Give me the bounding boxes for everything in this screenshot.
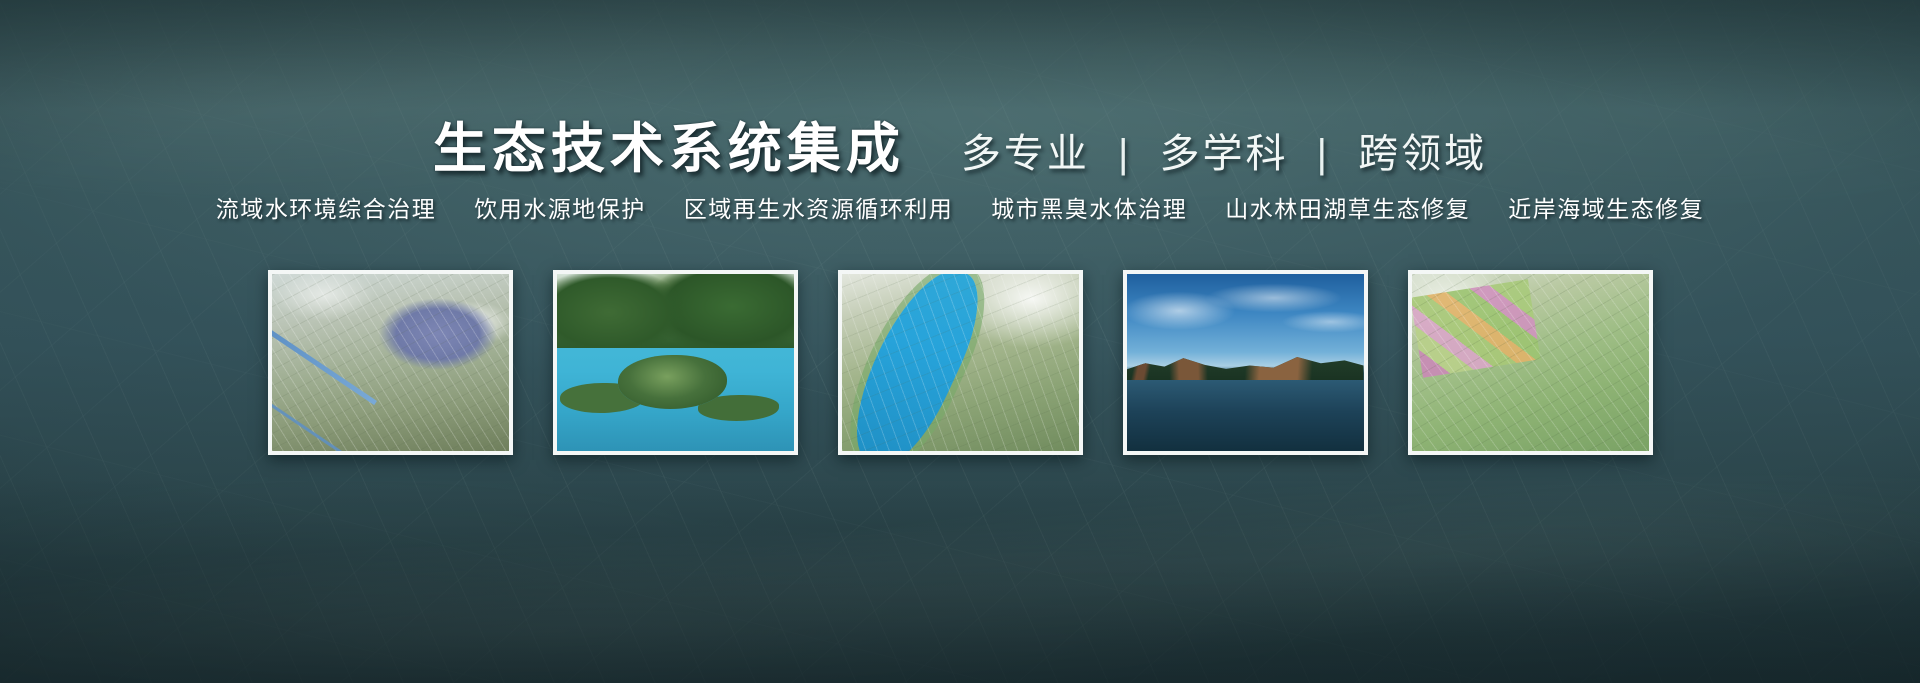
banner-headline: 生态技术系统集成 (433, 104, 905, 183)
gallery-thumb-4[interactable] (1123, 270, 1368, 455)
keyword-item-6[interactable]: 近岸海域生态修复 (1508, 190, 1704, 224)
banner-gallery (0, 270, 1920, 455)
hero-banner: 生态技术系统集成 多专业 | 多学科 | 跨领域 流域水环境综合治理 饮用水源地… (0, 0, 1920, 683)
tagline-item-3: 跨领域 (1358, 132, 1487, 176)
keyword-item-5[interactable]: 山水林田湖草生态修复 (1225, 190, 1470, 224)
banner-content: 生态技术系统集成 多专业 | 多学科 | 跨领域 流域水环境综合治理 饮用水源地… (0, 0, 1920, 683)
keyword-item-4[interactable]: 城市黑臭水体治理 (991, 190, 1187, 224)
tagline-item-1: 多专业 (961, 132, 1090, 176)
island-lake-image (557, 274, 794, 451)
tagline-separator-1: | (1104, 132, 1145, 176)
keyword-item-3[interactable]: 区域再生水资源循环利用 (684, 190, 954, 224)
river-corridor-image (842, 274, 1079, 451)
tagline-item-2: 多学科 (1160, 132, 1289, 176)
gallery-thumb-3[interactable] (838, 270, 1083, 455)
keyword-item-1[interactable]: 流域水环境综合治理 (216, 190, 437, 224)
tagline-separator-2: | (1303, 132, 1344, 176)
banner-title-row: 生态技术系统集成 多专业 | 多学科 | 跨领域 (0, 104, 1920, 183)
banner-keyword-list: 流域水环境综合治理 饮用水源地保护 区域再生水资源循环利用 城市黑臭水体治理 山… (0, 190, 1920, 224)
banner-tagline: 多专业 | 多学科 | 跨领域 (961, 121, 1487, 179)
gallery-thumb-2[interactable] (553, 270, 798, 455)
mountain-lake-image (1127, 274, 1364, 451)
gallery-thumb-5[interactable] (1408, 270, 1653, 455)
farmland-aerial-image (1412, 274, 1649, 451)
gallery-thumb-1[interactable] (268, 270, 513, 455)
keyword-item-2[interactable]: 饮用水源地保护 (474, 190, 646, 224)
aerial-plain-lake-image (272, 274, 509, 451)
